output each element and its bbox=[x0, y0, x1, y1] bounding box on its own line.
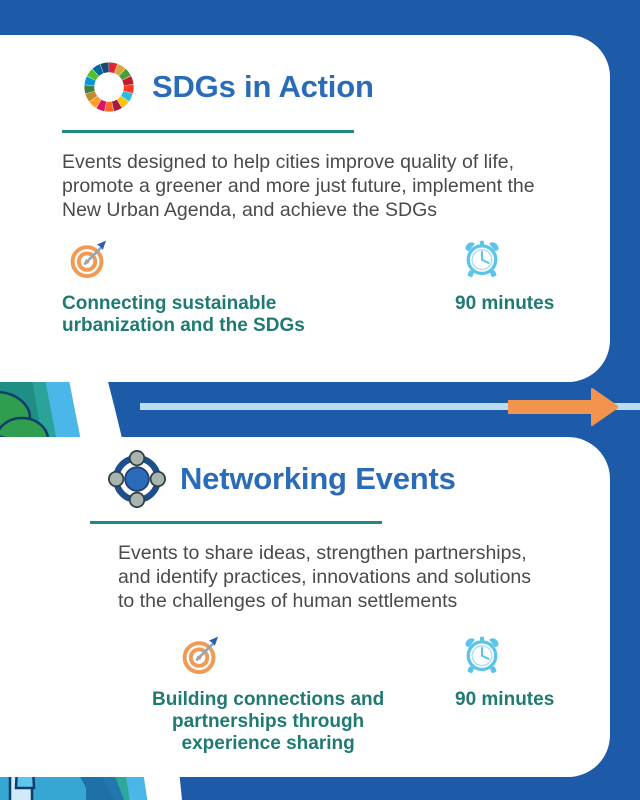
target-arrow-icon bbox=[68, 238, 110, 280]
feature-label-sdgs: Connecting sustainable urbanization and … bbox=[62, 293, 305, 337]
alarm-clock-icon bbox=[461, 238, 503, 280]
page-title-networking-events: Networking Events bbox=[180, 461, 456, 497]
alarm-clock-icon bbox=[461, 634, 503, 676]
card-body-networking-events: Events to share ideas, strengthen partne… bbox=[118, 541, 588, 613]
target-arrow-icon bbox=[180, 634, 222, 676]
duration-block-sdgs: 90 minutes bbox=[455, 238, 554, 315]
arrow-right-icon bbox=[508, 387, 618, 427]
card-header-networking-events: Networking Events bbox=[108, 450, 456, 508]
duration-block-networking: 90 minutes bbox=[455, 634, 554, 711]
page-title-sdgs-in-action: SDGs in Action bbox=[152, 69, 374, 105]
sdg-wheel-icon bbox=[80, 58, 138, 116]
network-nodes-icon bbox=[108, 450, 166, 508]
infographic-canvas: SDGs in Action Events designed to help c… bbox=[0, 0, 640, 800]
feature-block-sdgs: Connecting sustainable urbanization and … bbox=[62, 238, 305, 337]
card-body-sdgs-in-action: Events designed to help cities improve q… bbox=[62, 150, 562, 222]
feature-block-networking: Building connections and partnerships th… bbox=[152, 634, 384, 755]
divider-rule-sdgs bbox=[62, 130, 354, 133]
duration-label-networking: 90 minutes bbox=[455, 689, 554, 711]
feature-label-networking: Building connections and partnerships th… bbox=[152, 689, 384, 755]
duration-label-sdgs: 90 minutes bbox=[455, 293, 554, 315]
card-header-sdgs-in-action: SDGs in Action bbox=[80, 58, 374, 116]
divider-rule-networking bbox=[90, 521, 382, 524]
